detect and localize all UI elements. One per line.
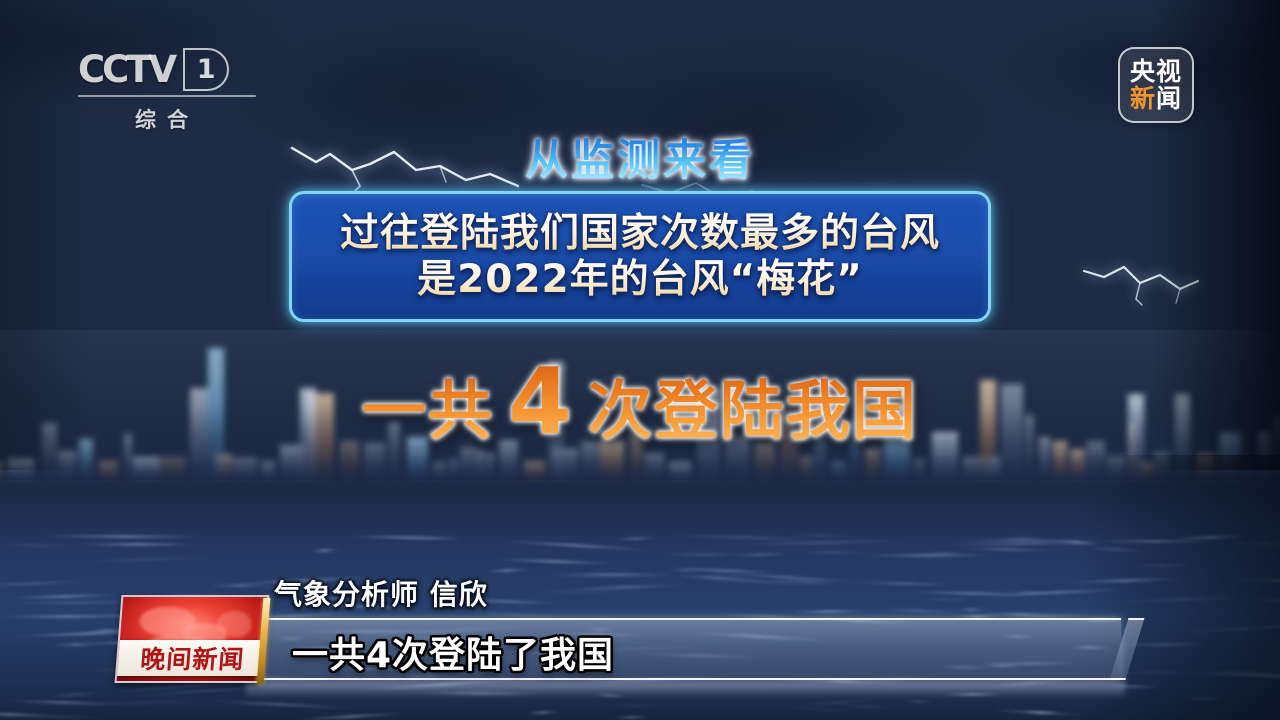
highlight-prefix: 一共 [362, 360, 494, 452]
news-badge-line1: 央视 [1130, 58, 1182, 85]
cctv-news-badge: 央视 新闻 [1118, 47, 1194, 123]
program-logo: 晚间新闻 [115, 595, 270, 683]
highlight-number: 4 [508, 348, 574, 455]
program-nameplate: 晚间新闻 [115, 640, 270, 676]
highlight-statistic: 一共 4 次登陆我国 [0, 348, 1280, 455]
broadcast-screen: CCTV 1 综合 央视 新闻 从监测来看 过往登陆我们国家次数最多的台风 是2… [0, 0, 1280, 720]
channel-number: 1 [183, 48, 229, 91]
info-panel: 过往登陆我们国家次数最多的台风 是2022年的台风“梅花” [289, 191, 991, 322]
speaker-name: 气象分析师 信欣 [274, 573, 488, 613]
news-badge-line2: 新闻 [1130, 85, 1182, 112]
lower-third-bar-glow [246, 682, 1126, 698]
lower-third: 晚间新闻 气象分析师 信欣 一共4次登陆了我国 [0, 565, 1280, 695]
subtitle-text: 一共4次登陆了我国 [292, 626, 614, 678]
logo-divider [78, 95, 256, 97]
kicker-headline: 从监测来看 [0, 126, 1280, 188]
info-panel-line-2: 是2022年的台风“梅花” [417, 258, 863, 302]
news-badge-char-orange: 新 [1130, 84, 1156, 113]
info-panel-line-1: 过往登陆我们国家次数最多的台风 [340, 212, 940, 256]
highlight-suffix: 次登陆我国 [588, 360, 918, 452]
news-badge-char-white: 闻 [1156, 84, 1182, 113]
cctv-wordmark: CCTV [78, 51, 174, 88]
channel-logo: CCTV 1 综合 [78, 48, 263, 128]
program-logo-label: 晚间新闻 [139, 640, 246, 676]
